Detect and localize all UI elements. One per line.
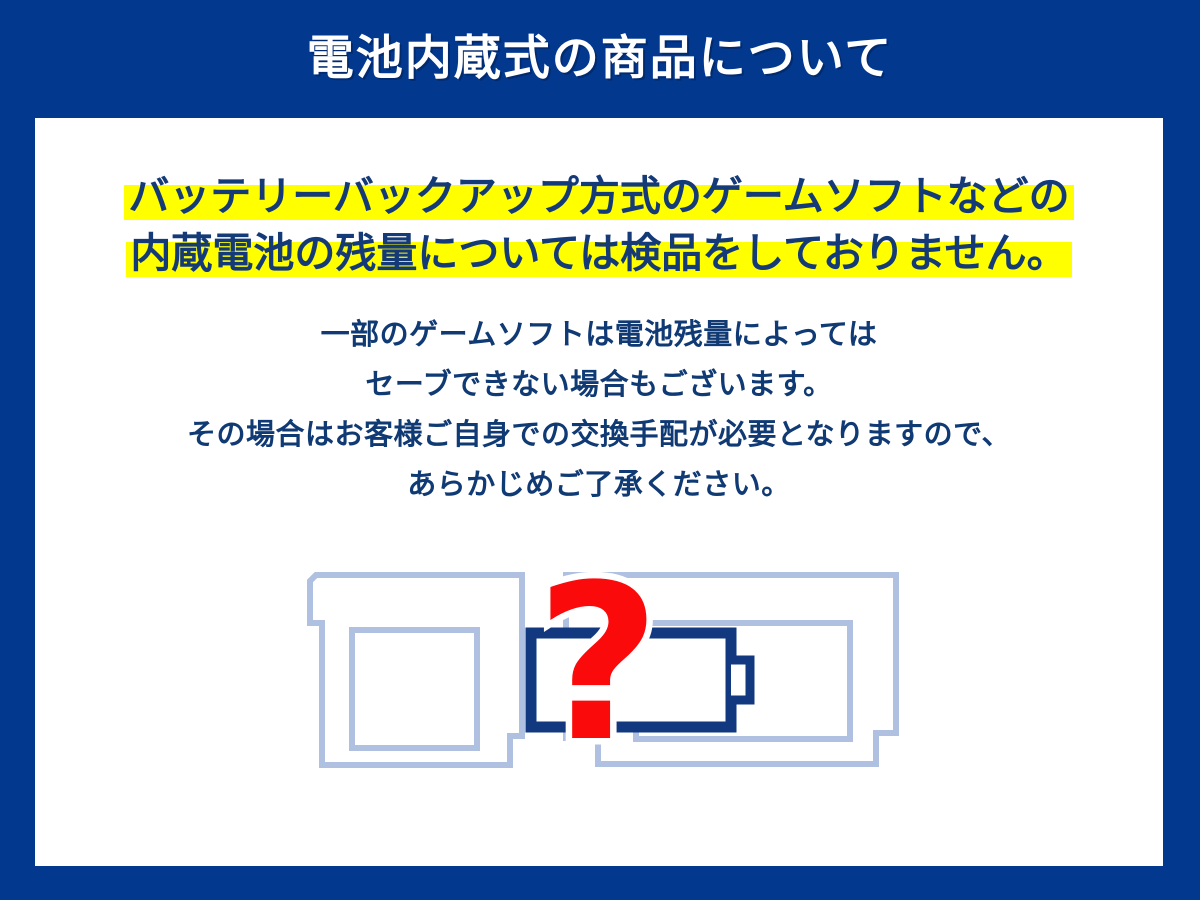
illustration: ?	[280, 548, 920, 793]
body-line-4: あらかじめご了承ください。	[35, 460, 1163, 510]
body-line-2: セーブできない場合もございます。	[35, 360, 1163, 410]
headline-block: バッテリーバックアップ方式のゲームソフトなどの 内蔵電池の残量については検品をし…	[35, 168, 1163, 281]
body-line-1: 一部のゲームソフトは電池残量によっては	[35, 310, 1163, 360]
body-line-3: その場合はお客様ご自身での交換手配が必要となりますので、	[35, 410, 1163, 460]
question-mark-glyph: ?	[536, 548, 661, 789]
headline-line-1: バッテリーバックアップ方式のゲームソフトなどの	[35, 168, 1163, 225]
vertical-game-cartridge-outline	[310, 575, 522, 765]
title-band: 電池内蔵式の商品について	[0, 0, 1200, 118]
page-title: 電池内蔵式の商品について	[307, 34, 894, 83]
headline-line-2: 内蔵電池の残量については検品をしておりません。	[35, 225, 1163, 282]
question-mark: ?	[536, 548, 661, 789]
vertical-cartridge-label	[352, 630, 477, 748]
poster-canvas: 電池内蔵式の商品について バッテリーバックアップ方式のゲームソフトなどの 内蔵電…	[0, 0, 1200, 900]
battery-terminal	[731, 660, 750, 700]
headline-highlight-1: バッテリーバックアップ方式のゲームソフトなどの	[124, 172, 1073, 220]
headline-highlight-2: 内蔵電池の残量については検品をしておりません。	[126, 229, 1071, 277]
body-copy-block: 一部のゲームソフトは電池残量によっては セーブできない場合もございます。 その場…	[35, 310, 1163, 510]
content-panel: バッテリーバックアップ方式のゲームソフトなどの 内蔵電池の残量については検品をし…	[35, 118, 1163, 866]
